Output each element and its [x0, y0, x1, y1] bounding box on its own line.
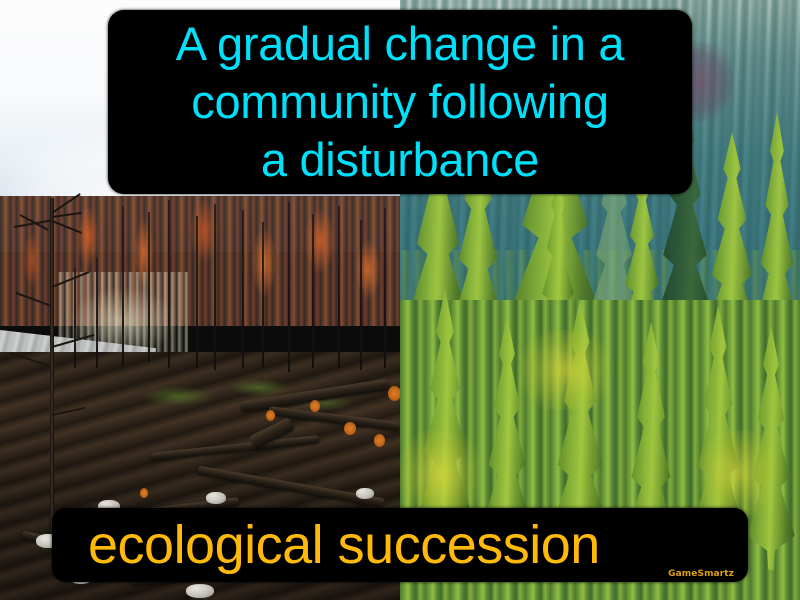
dead-trunk: [242, 210, 244, 368]
dead-trunk: [384, 208, 386, 368]
sunlit-highlight: [400, 430, 480, 520]
dead-trunk: [122, 206, 124, 366]
term-panel: ecological succession GameSmartz: [52, 508, 748, 582]
log-cut-end: [310, 400, 320, 412]
log-cut-end: [374, 434, 385, 447]
sunlit-highlight: [520, 330, 610, 410]
log-cut-end: [140, 488, 148, 498]
dead-trunk: [288, 202, 290, 372]
flashcard-image: A gradual change in a community followin…: [0, 0, 800, 600]
dead-trunk: [360, 220, 362, 370]
dead-trunk: [74, 268, 76, 368]
rock: [186, 584, 214, 598]
gamesmartz-watermark: GameSmartz: [668, 569, 734, 579]
dead-trunk: [148, 212, 150, 362]
rock: [206, 492, 226, 504]
dead-trunk: [96, 258, 98, 368]
definition-text: A gradual change in a community followin…: [160, 15, 640, 189]
dead-trunk: [168, 200, 170, 368]
definition-panel: A gradual change in a community followin…: [108, 10, 692, 194]
rock: [356, 488, 374, 499]
dead-trunk: [262, 222, 264, 368]
term-text: ecological succession: [52, 516, 600, 574]
sunlit-highlight: [700, 430, 776, 516]
log-cut-end: [266, 410, 275, 421]
dead-trunk: [312, 214, 314, 368]
fallen-log: [150, 435, 320, 461]
dead-trunk: [214, 204, 216, 370]
log-cut-end: [388, 386, 400, 401]
log-cut-end: [344, 422, 356, 435]
dead-trunk: [338, 206, 340, 368]
dead-trunk: [196, 216, 198, 368]
